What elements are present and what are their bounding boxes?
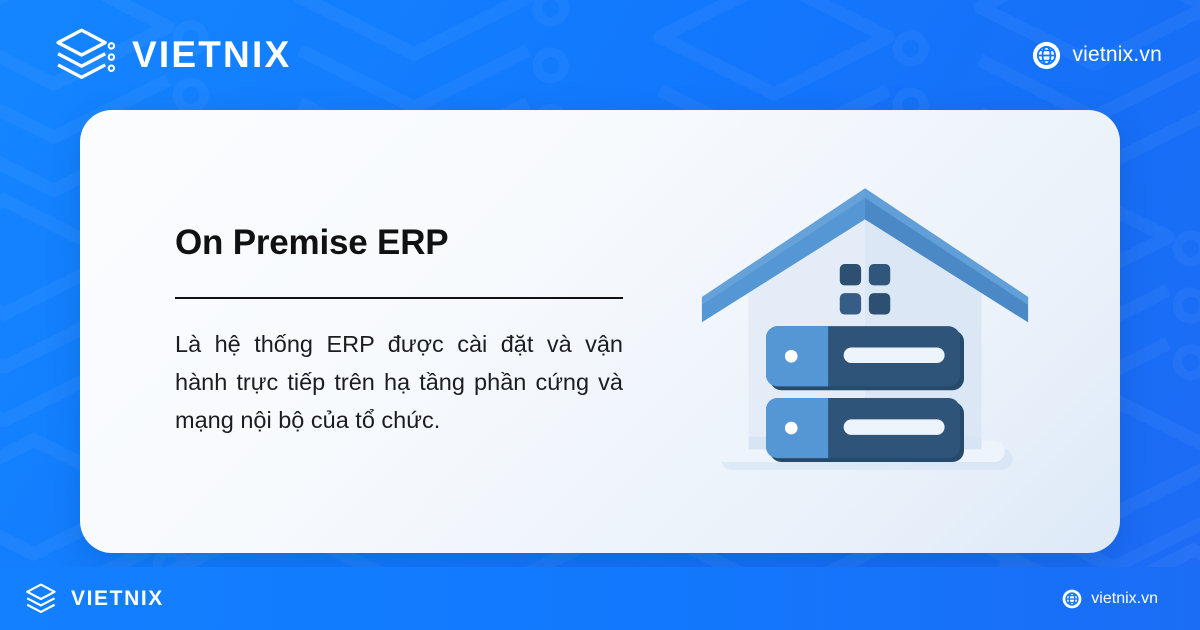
content-card: On Premise ERP Là hệ thống ERP được cài … (80, 110, 1120, 553)
title-divider (175, 297, 623, 299)
page-header: VIETNIX vietnix.vn (0, 0, 1200, 110)
footer-brand-logo[interactable]: VIETNIX (26, 581, 164, 617)
card-illustration-column (640, 110, 1120, 553)
server-unit-top (766, 326, 964, 390)
page-title: On Premise ERP (175, 224, 620, 263)
brand-wordmark: VIETNIX (132, 34, 291, 76)
page-footer: VIETNIX vietnix.vn (0, 567, 1200, 630)
stacked-layers-logo-icon (56, 24, 118, 86)
card-text-column: On Premise ERP Là hệ thống ERP được cài … (80, 224, 640, 440)
server-unit-bottom (766, 398, 964, 462)
site-url-text: vietnix.vn (1072, 43, 1162, 67)
globe-icon (1032, 41, 1061, 70)
house-with-servers-illustration (700, 167, 1030, 497)
stacked-layers-logo-icon (26, 581, 62, 617)
card-description: Là hệ thống ERP được cài đặt và vận hành… (175, 325, 623, 439)
site-url-link[interactable]: vietnix.vn (1032, 41, 1162, 70)
footer-site-url-text: vietnix.vn (1091, 590, 1158, 608)
poster-canvas: VIETNIX vietnix.vn On Premise ERP Là hệ … (0, 0, 1200, 630)
footer-site-url-link[interactable]: vietnix.vn (1062, 589, 1158, 609)
brand-logo[interactable]: VIETNIX (56, 24, 291, 86)
footer-brand-wordmark: VIETNIX (71, 587, 164, 611)
globe-icon (1062, 589, 1082, 609)
